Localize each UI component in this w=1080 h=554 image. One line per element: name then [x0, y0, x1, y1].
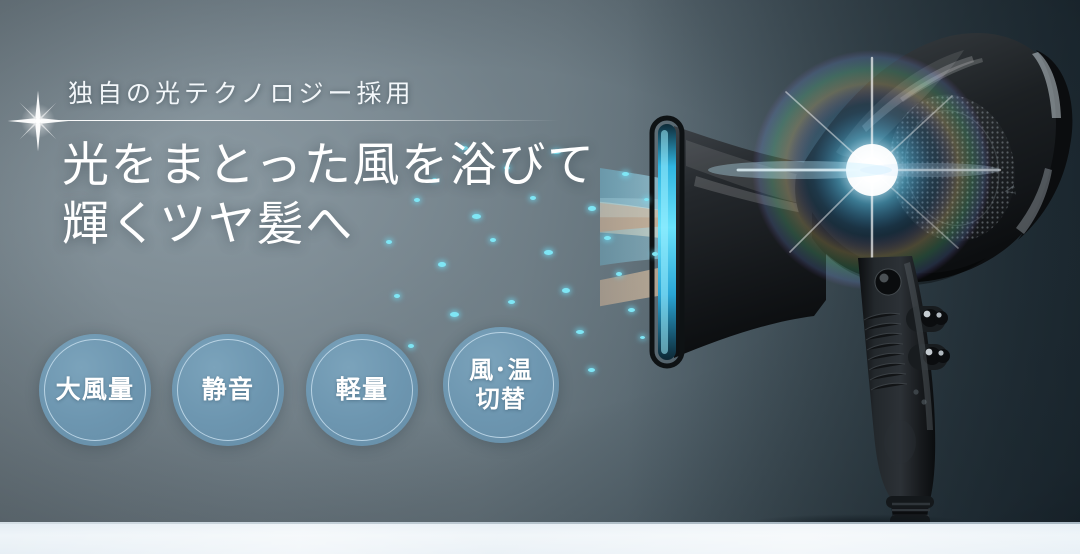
handle	[858, 256, 950, 500]
feature-badge-label: 静音	[202, 376, 255, 405]
feature-badge-airflow[interactable]: 大風量	[39, 334, 151, 446]
hair-dryer-illustration: V	[600, 0, 1080, 554]
feature-badge-mode-switch[interactable]: 風･温 切替	[443, 327, 559, 443]
feature-badge-lightweight[interactable]: 軽量	[306, 334, 418, 446]
switch-upper	[906, 306, 948, 332]
feature-badge-quiet[interactable]: 静音	[172, 334, 284, 446]
feature-badge-label-line-2: 切替	[476, 386, 526, 413]
feature-badge-label: 軽量	[336, 376, 389, 405]
feature-badge-list: 大風量 静音 軽量 風･温 切替	[0, 0, 600, 554]
hair-dryer-svg: V	[600, 0, 1080, 554]
promo-banner: V	[0, 0, 1080, 554]
feature-badge-label-line-1: 風･温	[469, 357, 533, 384]
feature-badge-label: 風･温 切替	[469, 356, 533, 415]
switch-lower	[908, 344, 950, 370]
feature-badge-label: 大風量	[56, 376, 135, 405]
